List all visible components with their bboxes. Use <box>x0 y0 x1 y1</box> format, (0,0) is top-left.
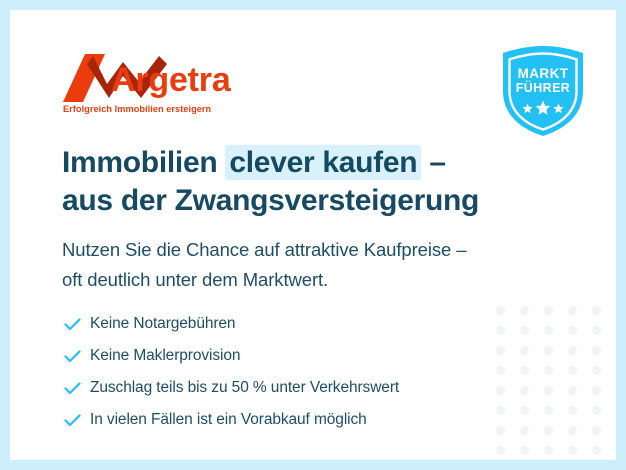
list-item-label: In vielen Fällen ist ein Vorabkauf mögli… <box>90 410 367 430</box>
dot <box>544 366 553 375</box>
dot <box>496 446 505 455</box>
subheadline-line-2: oft deutlich unter dem Marktwert. <box>62 265 532 295</box>
dot <box>568 346 577 355</box>
shield-badge-icon <box>499 45 587 137</box>
list-item: In vielen Fällen ist ein Vorabkauf mögli… <box>64 404 524 436</box>
dot <box>592 326 601 335</box>
dot <box>592 366 601 375</box>
dot <box>544 446 553 455</box>
dot <box>568 406 577 415</box>
logo-tagline: Erfolgreich Immobilien ersteigern <box>63 104 211 114</box>
headline-line-1: Immobilien clever kaufen – <box>62 144 532 182</box>
dot <box>592 406 601 415</box>
check-icon <box>64 318 90 331</box>
headline-line-2: aus der Zwangsversteigerung <box>62 182 532 220</box>
market-leader-badge: MARKT FÜHRER <box>499 45 587 137</box>
subheadline: Nutzen Sie die Chance auf attraktive Kau… <box>62 235 532 295</box>
list-item-label: Keine Notargebühren <box>90 314 235 334</box>
headline-text-after: – <box>421 146 445 179</box>
logo-wordmark: Argetra <box>111 60 231 100</box>
list-item: Zuschlag teils bis zu 50 % unter Verkehr… <box>64 372 524 404</box>
benefit-list: Keine Notargebühren Keine Maklerprovisio… <box>64 308 524 436</box>
dot <box>544 306 553 315</box>
headline: Immobilien clever kaufen – aus der Zwang… <box>62 144 532 220</box>
argetra-logo: Argetra Erfolgreich Immobilien ersteiger… <box>63 54 253 122</box>
dot <box>592 306 601 315</box>
dot <box>568 366 577 375</box>
list-item: Keine Notargebühren <box>64 308 524 340</box>
dot <box>568 426 577 435</box>
dot <box>520 446 529 455</box>
dot <box>568 326 577 335</box>
dot <box>592 446 601 455</box>
headline-text-before: Immobilien <box>62 146 225 179</box>
dot <box>544 426 553 435</box>
banner-card: Argetra Erfolgreich Immobilien ersteiger… <box>10 10 616 460</box>
dot <box>568 446 577 455</box>
dot <box>568 386 577 395</box>
list-item-label: Zuschlag teils bis zu 50 % unter Verkehr… <box>90 378 399 398</box>
dot <box>592 386 601 395</box>
headline-highlight: clever kaufen <box>225 145 421 180</box>
dot <box>592 426 601 435</box>
promo-banner: Argetra Erfolgreich Immobilien ersteiger… <box>0 0 626 470</box>
check-icon <box>64 414 90 427</box>
dot <box>544 346 553 355</box>
dot <box>592 346 601 355</box>
dot <box>544 406 553 415</box>
dot <box>544 386 553 395</box>
list-item-label: Keine Maklerprovision <box>90 346 240 366</box>
subheadline-line-1: Nutzen Sie die Chance auf attraktive Kau… <box>62 235 532 265</box>
check-icon <box>64 382 90 395</box>
dot <box>568 306 577 315</box>
check-icon <box>64 350 90 363</box>
list-item: Keine Maklerprovision <box>64 340 524 372</box>
dot <box>544 326 553 335</box>
